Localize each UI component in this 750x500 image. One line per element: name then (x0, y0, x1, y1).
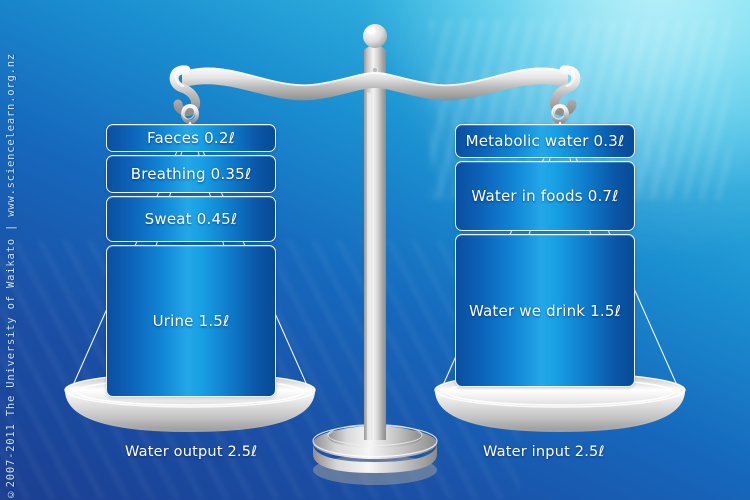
left-item-faeces-label: Faeces 0.2ℓ (147, 129, 235, 147)
left-item-sweat-label: Sweat 0.45ℓ (145, 210, 238, 228)
right-item-metabolic-water-label: Metabolic water 0.3ℓ (466, 132, 625, 150)
right-item-metabolic-water[interactable]: Metabolic water 0.3ℓ (455, 124, 635, 158)
left-item-urine[interactable]: Urine 1.5ℓ (106, 245, 276, 397)
right-item-water-we-drink[interactable]: Water we drink 1.5ℓ (455, 234, 635, 387)
copyright-text: ©2007-2011 The University of Waikato | w… (5, 47, 17, 500)
left-item-faeces[interactable]: Faeces 0.2ℓ (106, 124, 276, 152)
right-pan-stack: Metabolic water 0.3ℓ Water in foods 0.7ℓ… (455, 124, 635, 387)
right-item-water-in-foods[interactable]: Water in foods 0.7ℓ (455, 161, 635, 231)
right-pan-caption: Water input 2.5ℓ (483, 444, 605, 460)
left-item-breathing-label: Breathing 0.35ℓ (131, 165, 252, 183)
right-item-water-we-drink-label: Water we drink 1.5ℓ (469, 302, 621, 320)
copyright-notice: ©2007-2011 The University of Waikato | w… (1, 0, 21, 500)
left-item-urine-label: Urine 1.5ℓ (153, 312, 230, 330)
right-item-water-in-foods-label: Water in foods 0.7ℓ (471, 187, 618, 205)
left-pan-caption: Water output 2.5ℓ (125, 444, 257, 460)
left-pan-stack: Faeces 0.2ℓ Breathing 0.35ℓ Sweat 0.45ℓ … (106, 124, 276, 397)
diagram-canvas: Faeces 0.2ℓ Breathing 0.35ℓ Sweat 0.45ℓ … (0, 0, 750, 500)
left-item-sweat[interactable]: Sweat 0.45ℓ (106, 196, 276, 242)
left-item-breathing[interactable]: Breathing 0.35ℓ (106, 155, 276, 193)
